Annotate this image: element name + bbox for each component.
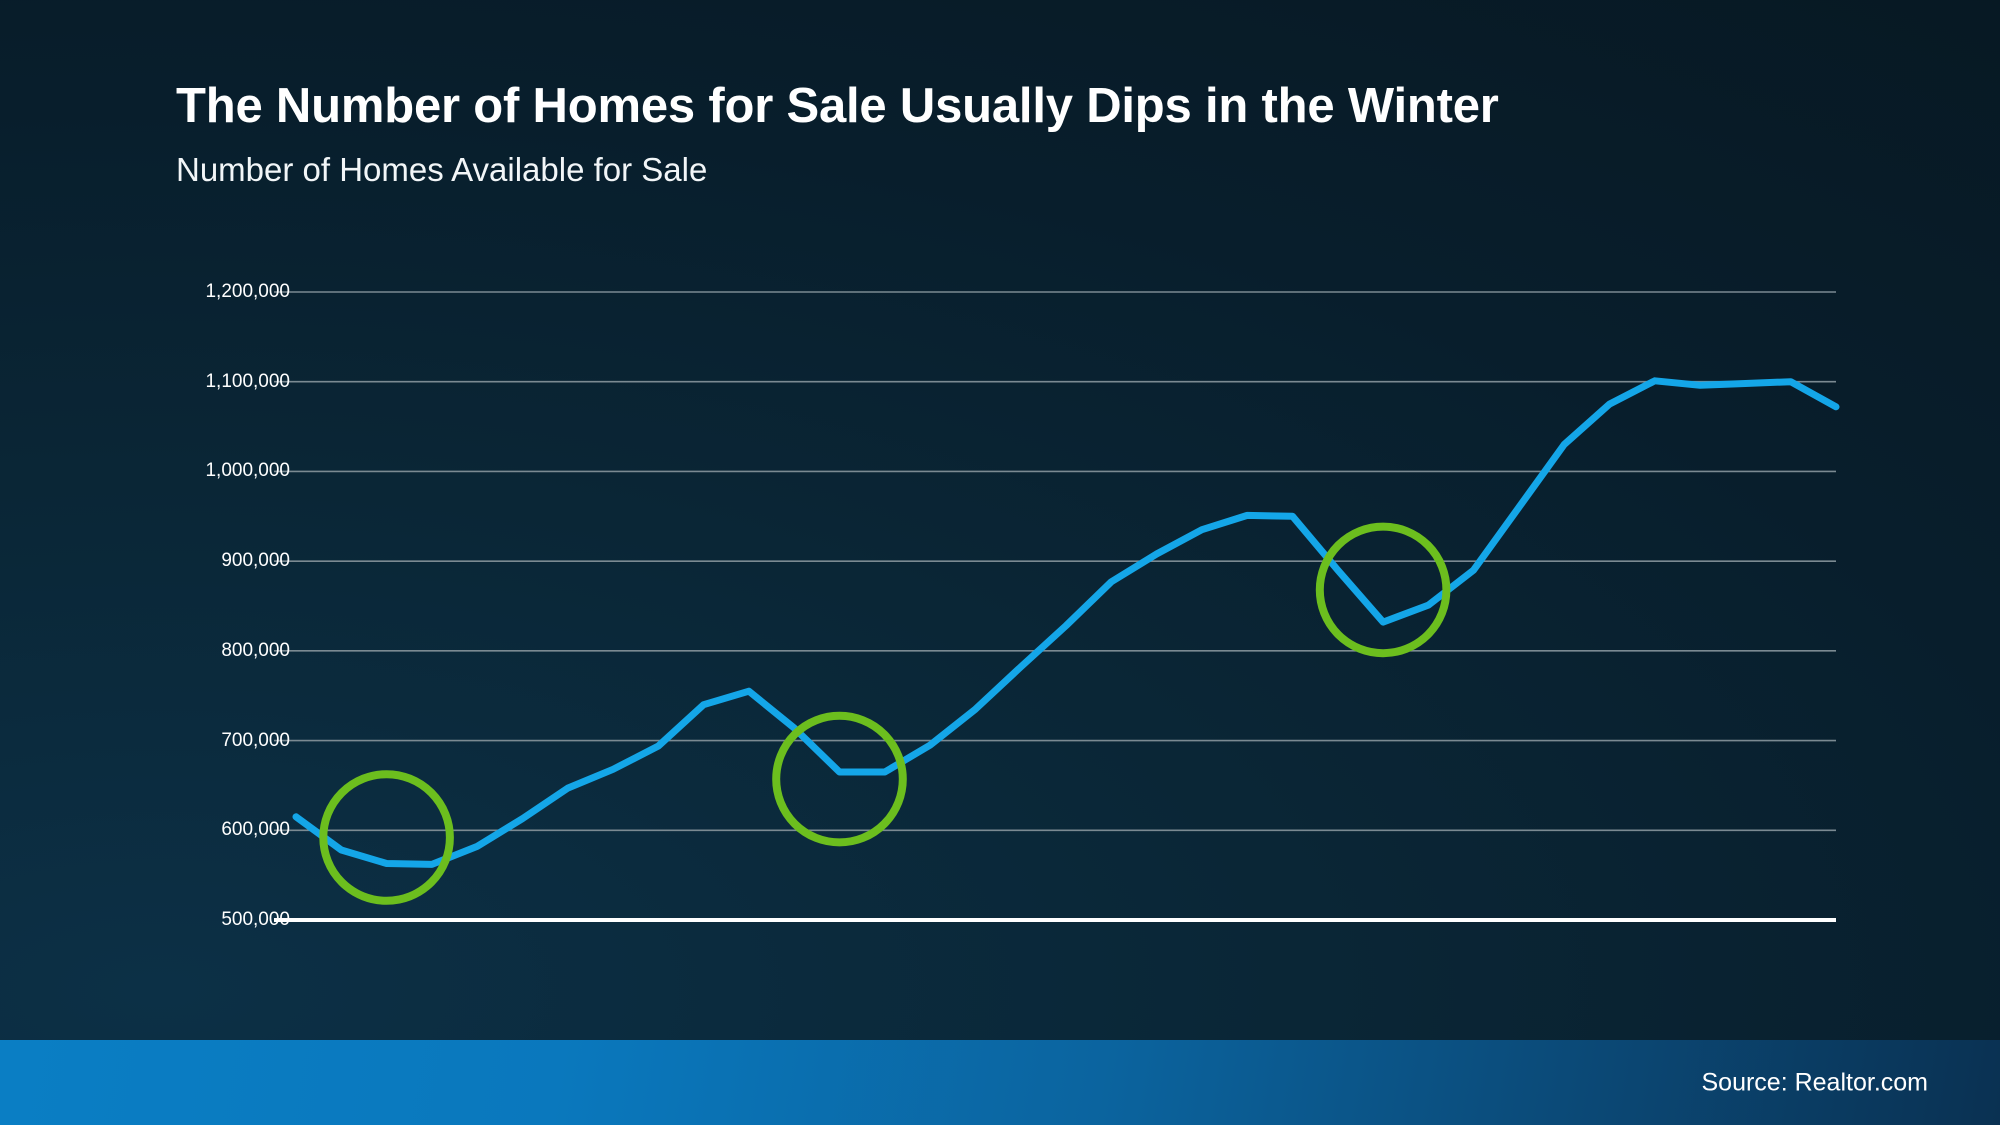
y-axis-tick-label: 700,000 (221, 730, 290, 752)
y-axis-tick-label: 900,000 (221, 550, 290, 572)
gridlines-group (274, 292, 1836, 830)
winter-dip-highlight-2023 (323, 774, 450, 901)
data-line (296, 381, 1836, 865)
y-axis-tick-label: 1,100,000 (205, 371, 290, 393)
y-axis-tick-labels: 1,200,0001,100,0001,000,000900,000800,00… (170, 260, 290, 920)
footer-bar: Source: Realtor.com (0, 1040, 2000, 1125)
y-axis-tick-label: 600,000 (221, 819, 290, 841)
chart-plot-area: 1,200,0001,100,0001,000,000900,000800,00… (0, 0, 2000, 1125)
y-axis-tick-label: 1,200,000 (205, 281, 290, 303)
winter-dip-highlight-2025 (1320, 527, 1447, 654)
highlight-circles-group (323, 527, 1446, 901)
data-series-group (296, 381, 1836, 865)
y-axis-tick-label: 800,000 (221, 640, 290, 662)
chart-slide: The Number of Homes for Sale Usually Dip… (0, 0, 2000, 1125)
y-axis-tick-label: 1,000,000 (205, 460, 290, 482)
source-label: Source: Realtor.com (1702, 1068, 1929, 1097)
winter-dip-highlight-2024 (776, 716, 903, 843)
y-axis-tick-label: 500,000 (221, 909, 290, 931)
